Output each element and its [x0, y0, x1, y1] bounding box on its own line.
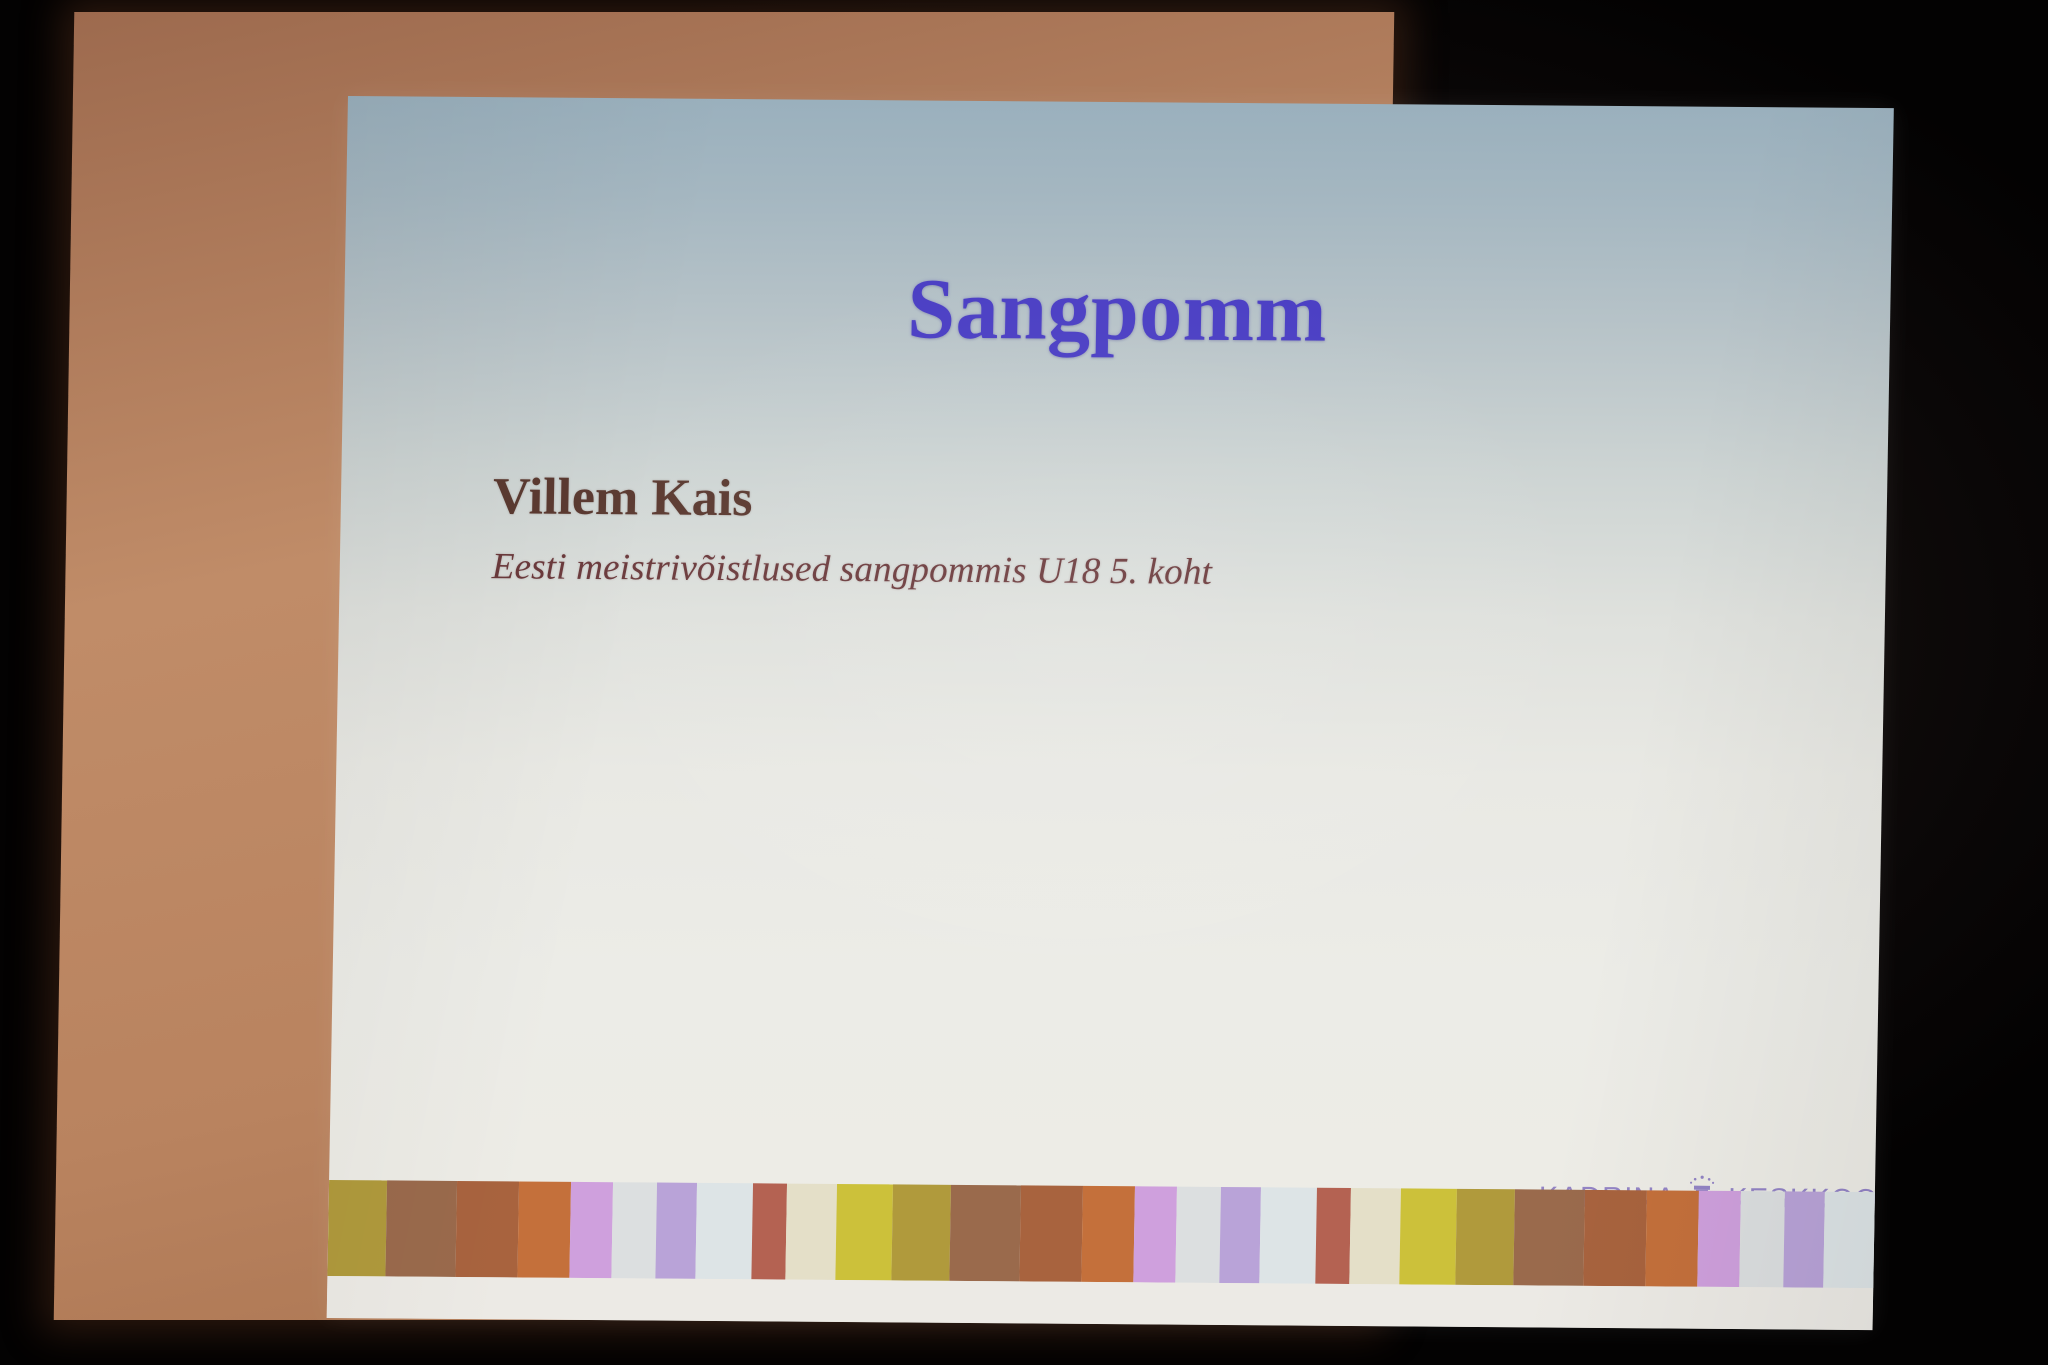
stripe-brown [1513, 1189, 1585, 1286]
achievement-description: Eesti meistrivõistlused sangpommis U18 5… [491, 545, 1212, 594]
stripe-light-violet [655, 1183, 697, 1279]
stripe-cream [1349, 1188, 1401, 1284]
stripe-yellow [835, 1184, 893, 1280]
stripe-yellow [1399, 1188, 1457, 1284]
stripe-olive [891, 1184, 951, 1280]
stripe-russet [1583, 1190, 1647, 1286]
stripe-group [327, 1180, 893, 1280]
bottom-color-stripe-band [327, 1180, 1875, 1288]
stripe-olive [327, 1180, 387, 1276]
stripe-brick-red [1879, 1192, 1894, 1288]
stripe-pale-blue [1823, 1192, 1881, 1288]
stripe-brick-red [1315, 1188, 1351, 1284]
stripe-lilac-pink [1133, 1186, 1177, 1282]
stripe-pale-gray [611, 1182, 657, 1278]
stripe-pale-blue [695, 1183, 753, 1279]
slide-title: Sangpomm [343, 254, 1891, 366]
stripe-cream [785, 1184, 837, 1280]
stripe-russet [1019, 1185, 1083, 1281]
stripe-group [1455, 1189, 1894, 1289]
stripe-orange [1081, 1186, 1135, 1282]
stripe-brown [385, 1180, 457, 1277]
presentation-slide: Sangpomm Villem Kais Eesti meistrivõistl… [327, 96, 1894, 1330]
stripe-brick-red [751, 1183, 787, 1279]
stripe-olive [1455, 1189, 1515, 1285]
stripe-pale-gray [1739, 1191, 1785, 1287]
stripe-light-violet [1219, 1187, 1261, 1283]
stripe-orange [517, 1181, 571, 1277]
stripe-brown [949, 1185, 1021, 1282]
stripe-lilac-pink [1697, 1191, 1741, 1287]
stripe-russet [455, 1181, 519, 1277]
stripe-pale-blue [1259, 1187, 1317, 1283]
stripe-orange [1645, 1190, 1699, 1286]
stripe-pale-gray [1175, 1187, 1221, 1283]
stripe-lilac-pink [569, 1182, 613, 1278]
projection-room: Sangpomm Villem Kais Eesti meistrivõistl… [0, 0, 2048, 1365]
athlete-name: Villem Kais [492, 467, 753, 528]
stripe-group [891, 1184, 1457, 1284]
stripe-light-violet [1783, 1191, 1825, 1287]
